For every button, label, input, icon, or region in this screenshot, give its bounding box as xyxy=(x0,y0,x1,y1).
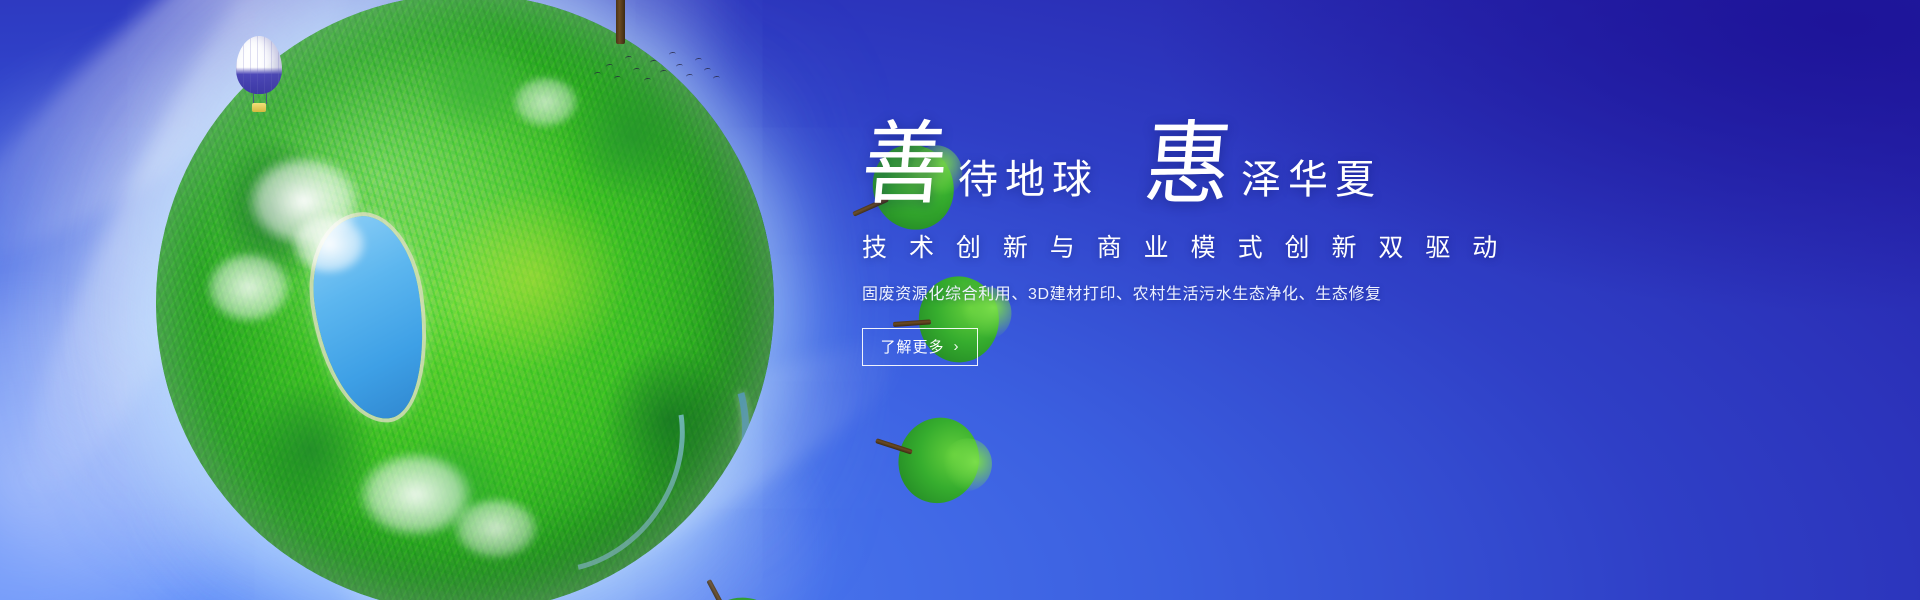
hero-banner: 善 待地球 惠 泽华夏 技 术 创 新 与 商 业 模 式 创 新 双 驱 动 … xyxy=(0,0,1920,600)
description: 固废资源化综合利用、3D建材打印、农村生活污水生态净化、生态修复 xyxy=(862,283,1562,307)
subtitle: 技 术 创 新 与 商 业 模 式 创 新 双 驱 动 xyxy=(862,233,1562,264)
headline-lead-char-2: 惠 xyxy=(1141,122,1235,209)
balloon-basket xyxy=(252,103,266,112)
tree-icon-large xyxy=(560,0,680,44)
headline-phrase-2: 惠 泽华夏 xyxy=(1145,124,1382,207)
bird-flock-icon xyxy=(592,46,722,88)
headline-lead-char-1: 善 xyxy=(858,122,952,209)
headline-rest-chars-1: 待地球 xyxy=(958,160,1099,207)
headline-rest-chars-2: 泽华夏 xyxy=(1241,160,1382,207)
tree-icon xyxy=(865,408,972,500)
headline-phrase-1: 善 待地球 xyxy=(862,124,1099,207)
learn-more-button[interactable]: 了解更多 › xyxy=(862,328,978,366)
headline: 善 待地球 惠 泽华夏 xyxy=(862,124,1562,207)
learn-more-label: 了解更多 xyxy=(880,336,944,357)
hero-content: 善 待地球 惠 泽华夏 技 术 创 新 与 商 业 模 式 创 新 双 驱 动 … xyxy=(862,124,1562,366)
hot-air-balloon-icon xyxy=(236,36,282,114)
chevron-right-icon: › xyxy=(954,339,960,354)
balloon-envelope xyxy=(236,36,282,94)
